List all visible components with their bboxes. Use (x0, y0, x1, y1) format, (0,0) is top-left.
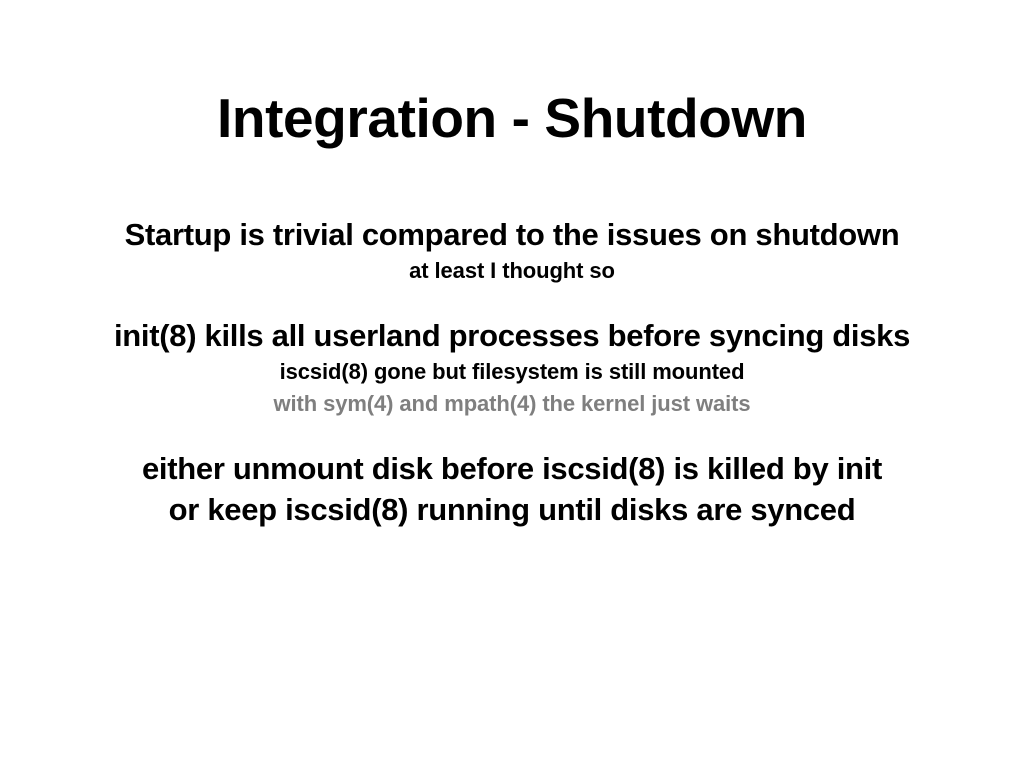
content-block: Startup is trivial compared to the issue… (0, 214, 1024, 287)
presentation-slide: Integration - Shutdown Startup is trivia… (0, 0, 1024, 768)
content-line-muted: with sym(4) and mpath(4) the kernel just… (0, 388, 1024, 420)
content-line: or keep iscsid(8) running until disks ar… (0, 489, 1024, 530)
content-block: init(8) kills all userland processes bef… (0, 315, 1024, 420)
slide-title: Integration - Shutdown (0, 89, 1024, 148)
content-line: iscsid(8) gone but filesystem is still m… (0, 356, 1024, 388)
content-line: at least I thought so (0, 255, 1024, 287)
slide-body: Startup is trivial compared to the issue… (0, 214, 1024, 530)
content-line: either unmount disk before iscsid(8) is … (0, 448, 1024, 489)
content-line: init(8) kills all userland processes bef… (0, 315, 1024, 356)
content-line: Startup is trivial compared to the issue… (0, 214, 1024, 255)
content-block: either unmount disk before iscsid(8) is … (0, 448, 1024, 530)
